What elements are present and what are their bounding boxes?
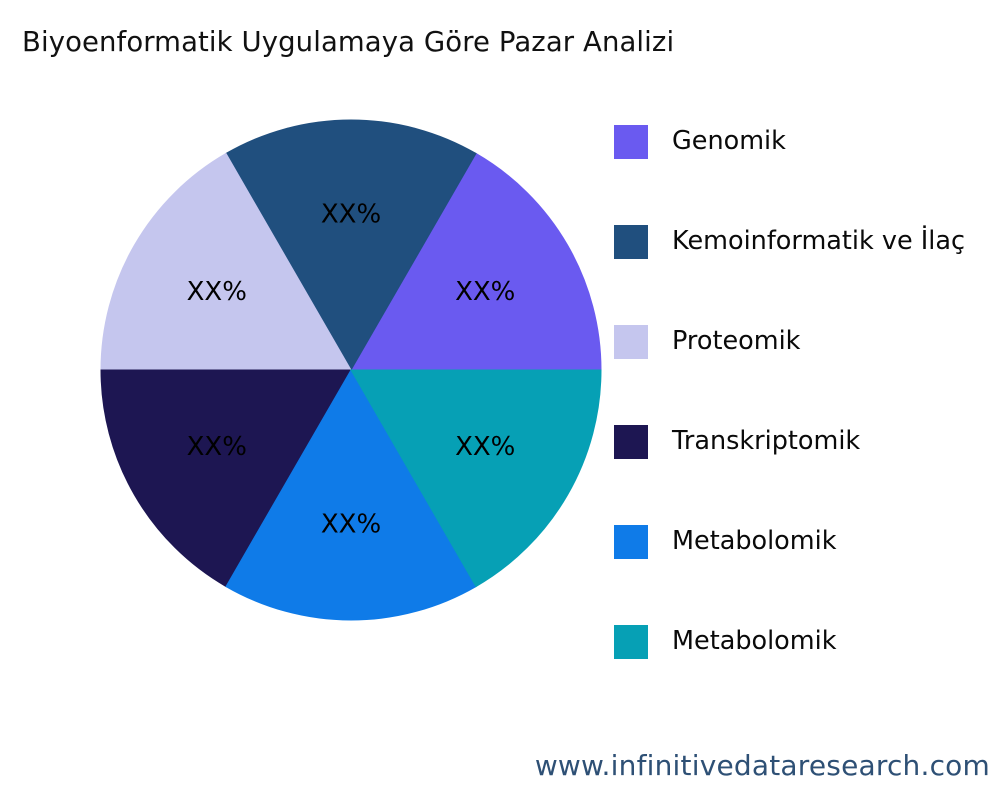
legend-item-label: Transkriptomik [672, 429, 860, 455]
pie-slice-group [101, 120, 601, 620]
legend-item[interactable]: Metabolomik [614, 520, 836, 564]
legend-item[interactable]: Transkriptomik [614, 420, 860, 464]
pie-slice-percentage-label: XX% [321, 200, 381, 230]
legend-item-label: Metabolomik [672, 529, 836, 555]
legend-color-swatch [614, 125, 648, 159]
page-title: Biyoenformatik Uygulamaya Göre Pazar Ana… [22, 26, 962, 58]
footer-website-url[interactable]: www.infinitivedataresearch.com [535, 749, 990, 782]
legend-item-label: Proteomik [672, 329, 800, 355]
pie-slice-percentage-label: XX% [187, 277, 247, 307]
legend-item-label: Kemoinformatik ve İlaç [672, 229, 965, 255]
pie-slice-percentage-label: XX% [321, 510, 381, 540]
legend-item[interactable]: Proteomik [614, 320, 800, 364]
chart-legend: GenomikKemoinformatik ve İlaçProteomikTr… [614, 116, 1000, 676]
pie-chart-figure: Biyoenformatik Uygulamaya Göre Pazar Ana… [0, 0, 1000, 800]
pie-svg: XX%XX%XX%XX%XX%XX% [101, 120, 601, 620]
legend-item[interactable]: Metabolomik [614, 620, 836, 664]
legend-color-swatch [614, 425, 648, 459]
pie-plot-area: XX%XX%XX%XX%XX%XX% [101, 120, 601, 620]
legend-color-swatch [614, 225, 648, 259]
pie-slice-percentage-label: XX% [187, 432, 247, 462]
legend-item-label: Genomik [672, 129, 786, 155]
pie-slice-percentage-label: XX% [455, 432, 515, 462]
legend-color-swatch [614, 625, 648, 659]
legend-color-swatch [614, 525, 648, 559]
pie-slice-percentage-label: XX% [455, 277, 515, 307]
legend-item[interactable]: Kemoinformatik ve İlaç [614, 220, 965, 264]
legend-item[interactable]: Genomik [614, 120, 786, 164]
legend-color-swatch [614, 325, 648, 359]
legend-item-label: Metabolomik [672, 629, 836, 655]
